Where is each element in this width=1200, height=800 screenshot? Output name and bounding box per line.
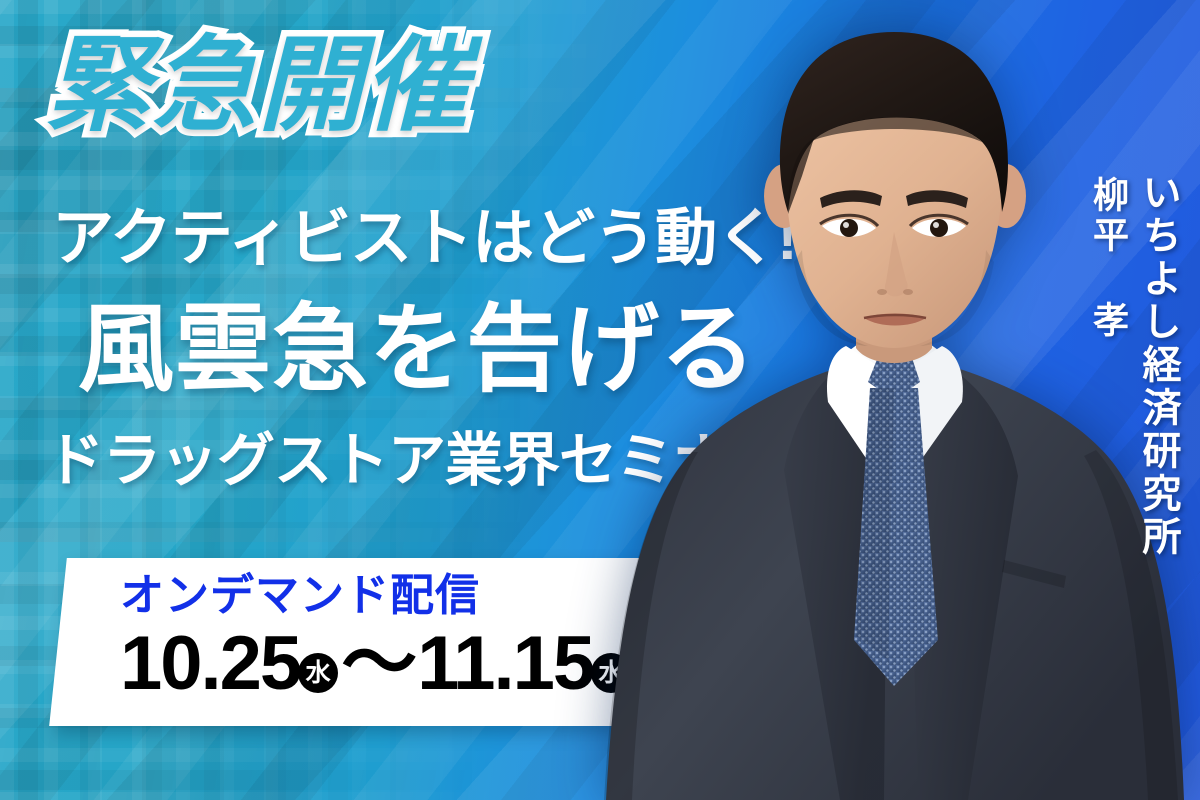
speaker-name: 柳平 孝 [1082,176,1134,341]
speaker-eyebrow-right [906,190,968,208]
lead-question-line: アクティビストはどう動く!? [52,208,834,270]
seminar-banner: 緊急開催 アクティビストはどう動く!? 風雲急を告げる ドラッグストア業界セミナ… [0,0,1200,800]
speaker-mouth [864,314,926,326]
speaker-tie [854,352,938,686]
speaker-neck [856,268,932,363]
text-content-block: 緊急開催 アクティビストはどう動く!? 風雲急を告げる ドラッグストア業界セミナ… [0,0,860,800]
speaker-nose [885,232,908,296]
speaker-ear-right [986,164,1026,228]
subtitle-line: ドラッグストア業界セミナー [46,432,787,490]
speaker-organization: いちよし経済研究所 [1130,172,1186,559]
speaker-eye-right [910,215,968,237]
page-title: 風雲急を告げる [78,302,757,398]
eyebrow-headline: 緊急開催 [46,34,470,138]
